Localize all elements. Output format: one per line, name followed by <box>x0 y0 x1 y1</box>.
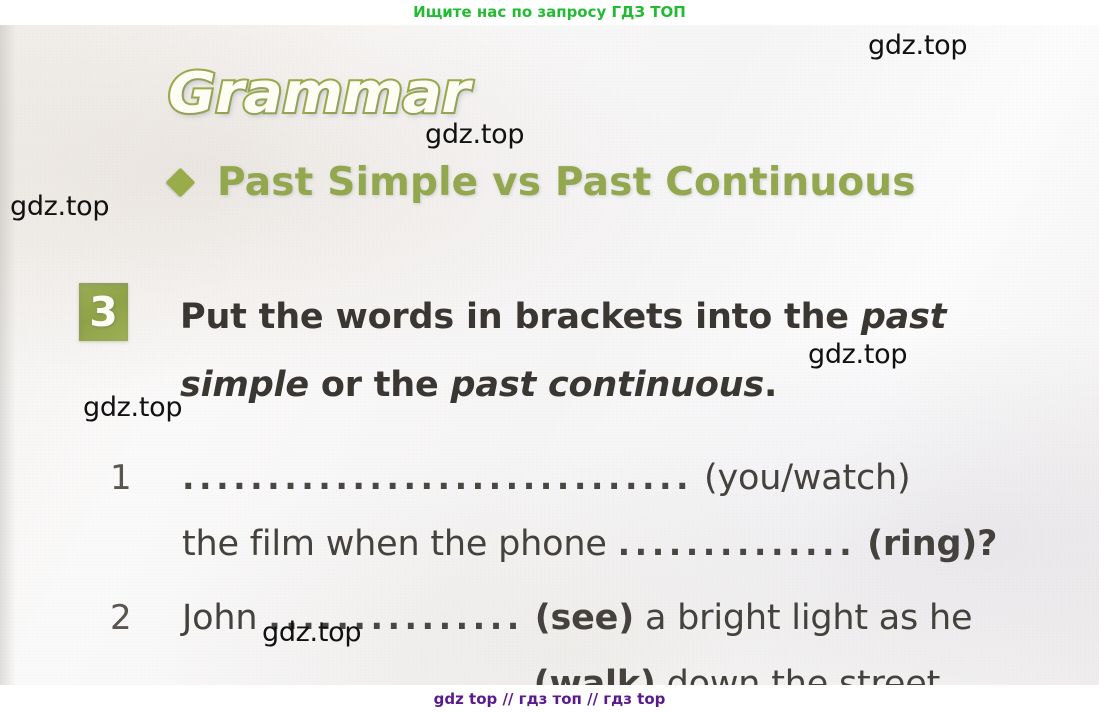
scanned-textbook-page: Grammar Past Simple vs Past Continuous 3… <box>0 25 1099 685</box>
grammar-section-title: Grammar <box>168 61 470 126</box>
instruction-plain-3: . <box>764 365 777 405</box>
exercise-question-list: 1 .............................. (you/wa… <box>110 445 1070 685</box>
exercise-number-badge: 3 <box>79 283 128 341</box>
grammar-topic-label: Past Simple vs Past Continuous <box>217 160 916 205</box>
answer-blank-1a[interactable]: .............................. <box>182 458 693 497</box>
verb-cue-walk: (walk) <box>534 664 656 685</box>
answer-blank-1b[interactable]: .............. <box>618 524 857 563</box>
watermark-gdz-top: gdz.top <box>425 119 524 150</box>
question-number-2: 2 <box>110 585 182 651</box>
question-2-line2-after: down the street. <box>656 664 951 685</box>
bottom-promo-banner: gdz top // гдз топ // гдз top <box>0 685 1099 713</box>
watermark-gdz-top: gdz.top <box>10 191 109 222</box>
instruction-plain-2: or the <box>309 365 451 405</box>
top-promo-banner: Ищите нас по запросу ГДЗ ТОП <box>0 0 1099 25</box>
instruction-italic-1: past <box>861 297 946 337</box>
scan-edge-shadow <box>0 25 16 685</box>
question-2-line1-after: a bright light as he <box>634 598 972 638</box>
verb-cue-see: (see) <box>535 598 634 638</box>
watermark-gdz-top: gdz.top <box>808 339 907 370</box>
verb-cue-you-watch: (you/watch) <box>704 458 910 498</box>
question-1-line2-before: the film when the phone <box>182 524 618 564</box>
watermark-gdz-top: gdz.top <box>262 617 361 648</box>
question-text-1: .............................. (you/watc… <box>182 445 1070 577</box>
watermark-gdz-top: gdz.top <box>868 30 967 61</box>
diamond-bullet-icon <box>166 168 196 198</box>
watermark-gdz-top: gdz.top <box>83 392 182 423</box>
exercise-number-label: 3 <box>89 292 118 333</box>
question-item-2: 2 John ............... (see) a bright li… <box>110 585 1070 685</box>
question-number-1: 1 <box>110 445 182 511</box>
instruction-italic-2: simple <box>180 365 309 405</box>
question-2-line1-before: John <box>182 598 268 638</box>
verb-cue-ring: (ring)? <box>867 524 997 564</box>
instruction-plain-1: Put the words in brackets into the <box>180 297 861 337</box>
question-item-1: 1 .............................. (you/wa… <box>110 445 1070 577</box>
answer-blank-2b[interactable]: .................... <box>182 664 523 685</box>
instruction-italic-3: past continuous <box>451 365 765 405</box>
grammar-topic-row: Past Simple vs Past Continuous <box>170 160 916 205</box>
